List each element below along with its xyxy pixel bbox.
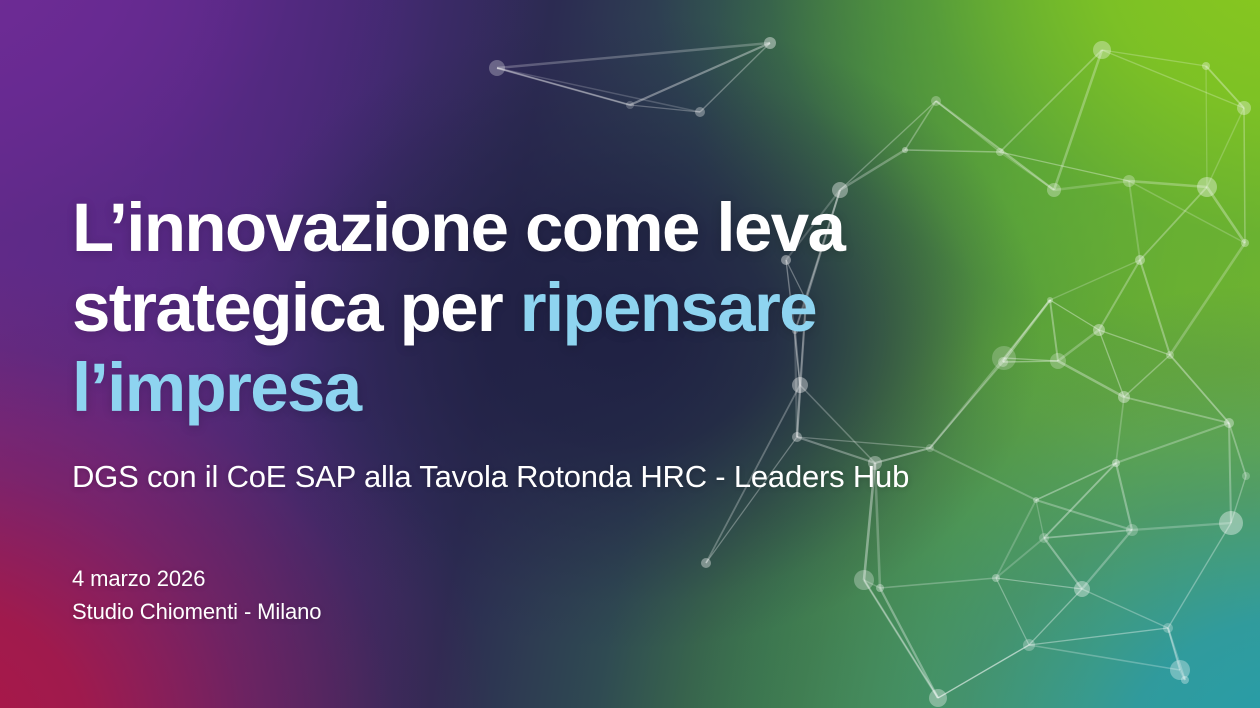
slide-subtitle: DGS con il CoE SAP alla Tavola Rotonda H… — [72, 458, 1212, 497]
event-date: 4 marzo 2026 — [72, 562, 321, 595]
event-details: 4 marzo 2026 Studio Chiomenti - Milano — [72, 562, 321, 629]
headline-line-2-accent: ripensare — [520, 269, 816, 346]
headline-line-1: L’innovazione come leva — [72, 189, 844, 266]
page-title: L’innovazione come leva strategica per r… — [72, 188, 1082, 428]
slide-content: L’innovazione come leva strategica per r… — [72, 0, 1202, 708]
event-venue: Studio Chiomenti - Milano — [72, 595, 321, 628]
title-slide: L’innovazione come leva strategica per r… — [0, 0, 1260, 708]
headline-line-3-accent: l’impresa — [72, 349, 361, 426]
headline-line-2-plain: strategica per — [72, 269, 520, 346]
